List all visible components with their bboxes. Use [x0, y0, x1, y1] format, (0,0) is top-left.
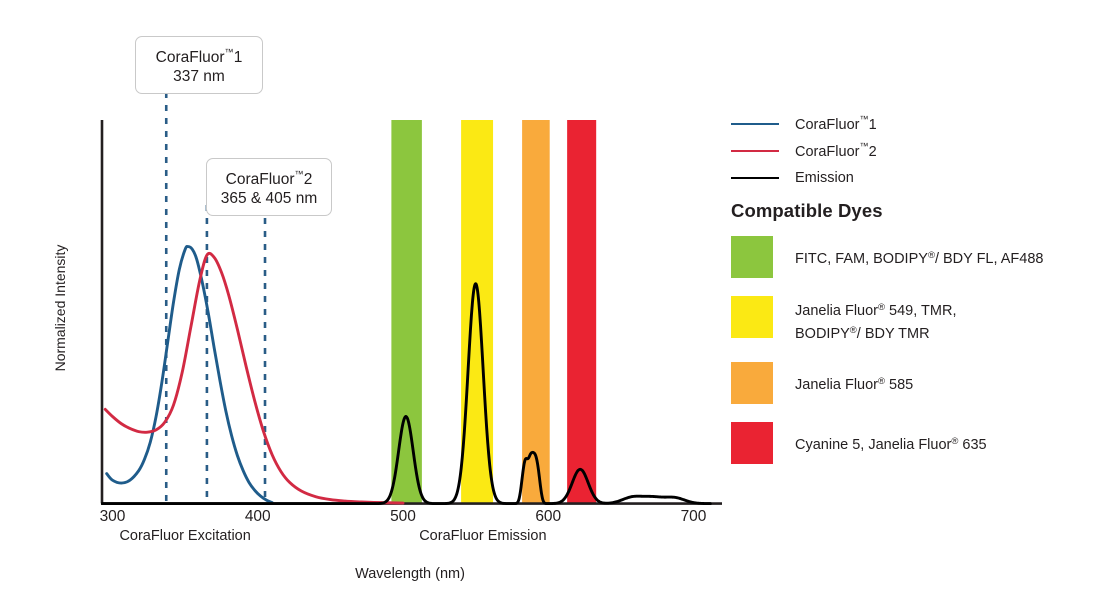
callout-corafluor2: CoraFluor™2 365 & 405 nm: [206, 158, 332, 216]
callout2-line1: CoraFluor™2: [226, 171, 313, 188]
legend-label: CoraFluor™1: [795, 114, 877, 133]
x-tick-700: 700: [664, 508, 724, 526]
callout1-line2: 337 nm: [146, 67, 252, 86]
legend-line-swatch: [731, 150, 779, 152]
excitation-region-label: CoraFluor Excitation: [75, 528, 295, 544]
dye-band-green: [391, 120, 422, 504]
dye-color-swatch: [731, 236, 773, 278]
emission-region-label: CoraFluor Emission: [373, 528, 593, 544]
dye-label: FITC, FAM, BODIPY®/ BDY FL, AF488: [795, 236, 1043, 269]
curve-CoraFluor2: [105, 253, 403, 503]
dye-row-1: Janelia Fluor® 549, TMR,BODIPY®/ BDY TMR: [731, 296, 1101, 344]
callout-corafluor1: CoraFluor™1 337 nm: [135, 36, 263, 94]
x-axis-title: Wavelength (nm): [310, 566, 510, 582]
legend-line-swatch: [731, 123, 779, 125]
series-legend: CoraFluor™1CoraFluor™2Emission: [731, 110, 1091, 191]
legend-label: CoraFluor™2: [795, 141, 877, 160]
dye-color-swatch: [731, 296, 773, 338]
x-tick-400: 400: [228, 508, 288, 526]
dye-row-3: Cyanine 5, Janelia Fluor® 635: [731, 422, 1101, 464]
legend-item-1: CoraFluor™2: [731, 137, 1091, 164]
y-axis-title: Normalized Intensity: [52, 218, 68, 398]
dye-color-swatch: [731, 422, 773, 464]
compatible-dyes-list: FITC, FAM, BODIPY®/ BDY FL, AF488Janelia…: [731, 236, 1101, 482]
legend-line-swatch: [731, 177, 779, 179]
dye-row-2: Janelia Fluor® 585: [731, 362, 1101, 404]
callout2-line2: 365 & 405 nm: [217, 189, 321, 208]
x-tick-300: 300: [83, 508, 143, 526]
x-tick-500: 500: [373, 508, 433, 526]
excitation-dashed-lines: [166, 92, 265, 504]
dye-band-red: [567, 120, 596, 504]
legend-label: Emission: [795, 170, 854, 186]
callout1-line1: CoraFluor™1: [156, 49, 243, 66]
dye-bands-group: [391, 120, 596, 504]
dye-band-orange: [522, 120, 550, 504]
compatible-dyes-title: Compatible Dyes: [731, 200, 883, 222]
dye-label: Janelia Fluor® 549, TMR,BODIPY®/ BDY TMR: [795, 296, 956, 344]
dye-color-swatch: [731, 362, 773, 404]
x-tick-600: 600: [518, 508, 578, 526]
dye-row-0: FITC, FAM, BODIPY®/ BDY FL, AF488: [731, 236, 1101, 278]
figure-root: CoraFluor™1 337 nm CoraFluor™2 365 & 405…: [0, 0, 1110, 612]
legend-item-0: CoraFluor™1: [731, 110, 1091, 137]
dye-label: Cyanine 5, Janelia Fluor® 635: [795, 422, 987, 455]
legend-item-2: Emission: [731, 164, 1091, 191]
dye-label: Janelia Fluor® 585: [795, 362, 913, 395]
